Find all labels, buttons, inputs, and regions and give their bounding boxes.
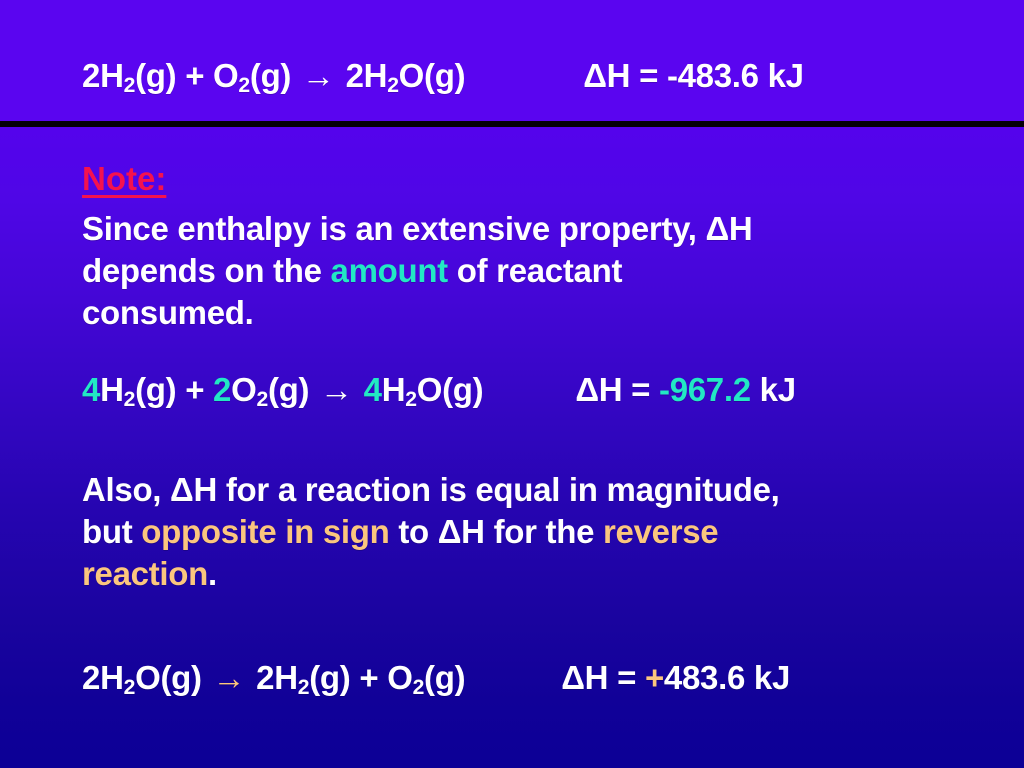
thermochemical-equation-reverse: 2H2O(g) → 2H2(g) + O2(g)ΔH = +483.6 kJ bbox=[82, 659, 790, 702]
eq2-delta-h-label: ΔH = bbox=[575, 371, 650, 408]
eq1-product-formula-h: H bbox=[364, 57, 388, 94]
also-line-1-text: Also, ΔH for a reaction is equal in magn… bbox=[82, 471, 780, 508]
eq2-reactant2-formula: O bbox=[231, 371, 256, 408]
also-line-3-period: . bbox=[208, 555, 217, 592]
also-line-3: reaction. bbox=[82, 553, 217, 595]
eq1-product-formula-o: O bbox=[399, 57, 424, 94]
eq1-reactant2-state: (g) bbox=[250, 57, 291, 94]
slide-canvas: 2H2(g) + O2(g) → 2H2O(g)ΔH = -483.6 kJ N… bbox=[0, 0, 1024, 768]
eq2-reactant1-formula: H bbox=[100, 371, 124, 408]
eq1-plus-sign: + bbox=[185, 57, 204, 94]
also-highlight-reverse: reverse bbox=[603, 513, 718, 550]
eq3-plus-sign: + bbox=[359, 659, 378, 696]
reaction-arrow-icon: → bbox=[211, 659, 248, 696]
thermochemical-equation-scaled: 4H2(g) + 2O2(g) → 4H2O(g)ΔH = -967.2 kJ bbox=[82, 371, 796, 414]
eq1-reactant2-subscript: 2 bbox=[238, 74, 249, 97]
eq3-product1-subscript: 2 bbox=[298, 676, 309, 699]
eq2-product-formula-o: O bbox=[417, 371, 442, 408]
eq3-reactant-subscript: 2 bbox=[124, 676, 135, 699]
note-line-2-text-after: of reactant bbox=[448, 252, 622, 289]
eq3-reactant-coeff: 2 bbox=[82, 659, 100, 696]
note-line-1-text: Since enthalpy is an extensive property,… bbox=[82, 210, 752, 247]
eq1-reactant1-state: (g) bbox=[135, 57, 176, 94]
eq2-reactant2-coeff: 2 bbox=[213, 371, 231, 408]
eq3-product1-coeff: 2 bbox=[256, 659, 274, 696]
eq2-delta-h-value: -967.2 bbox=[659, 371, 751, 408]
eq3-delta-h-sign: + bbox=[645, 659, 664, 696]
reaction-arrow-icon: → bbox=[318, 371, 355, 408]
eq2-reactant2-state: (g) bbox=[268, 371, 309, 408]
eq2-delta-h-unit: kJ bbox=[760, 371, 796, 408]
also-highlight-reaction: reaction bbox=[82, 555, 208, 592]
eq3-delta-h-value: 483.6 bbox=[664, 659, 745, 696]
eq3-reactant-formula-h: H bbox=[100, 659, 124, 696]
eq1-delta-h-value: -483.6 bbox=[667, 57, 759, 94]
eq1-reactant1-subscript: 2 bbox=[124, 74, 135, 97]
eq2-product-formula-h: H bbox=[382, 371, 406, 408]
eq3-product1-state: (g) bbox=[309, 659, 350, 696]
eq3-product2-state: (g) bbox=[424, 659, 465, 696]
note-line-3-text: consumed. bbox=[82, 294, 254, 331]
eq3-reactant-state: (g) bbox=[160, 659, 201, 696]
eq2-product-state: (g) bbox=[442, 371, 483, 408]
eq2-product-subscript: 2 bbox=[405, 388, 416, 411]
eq2-product-coeff: 4 bbox=[364, 371, 382, 408]
eq3-product2-formula: O bbox=[387, 659, 412, 696]
note-label: Note: bbox=[82, 160, 166, 198]
eq2-reactant1-coeff: 4 bbox=[82, 371, 100, 408]
also-highlight-opposite-in-sign: opposite in sign bbox=[141, 513, 389, 550]
note-highlight-amount: amount bbox=[331, 252, 448, 289]
eq2-plus-sign: + bbox=[185, 371, 204, 408]
note-line-2: depends on the amount of reactant bbox=[82, 250, 622, 292]
eq1-product-state: (g) bbox=[424, 57, 465, 94]
eq2-reactant2-subscript: 2 bbox=[256, 388, 267, 411]
note-line-1: Since enthalpy is an extensive property,… bbox=[82, 208, 752, 250]
eq1-product-coeff: 2 bbox=[346, 57, 364, 94]
eq1-product-subscript: 2 bbox=[387, 74, 398, 97]
eq2-reactant1-state: (g) bbox=[135, 371, 176, 408]
eq3-reactant-formula-o: O bbox=[135, 659, 160, 696]
note-line-3: consumed. bbox=[82, 292, 254, 334]
eq1-reactant1-formula: H bbox=[100, 57, 124, 94]
also-line-1: Also, ΔH for a reaction is equal in magn… bbox=[82, 469, 780, 511]
eq1-reactant2-formula: O bbox=[213, 57, 238, 94]
eq3-product1-formula: H bbox=[274, 659, 298, 696]
also-line-2: but opposite in sign to ΔH for the rever… bbox=[82, 511, 718, 553]
horizontal-divider-rule bbox=[0, 121, 1024, 127]
eq1-reactant1-coeff: 2 bbox=[82, 57, 100, 94]
eq1-delta-h-unit: kJ bbox=[768, 57, 804, 94]
note-line-2-text-before: depends on the bbox=[82, 252, 331, 289]
eq3-delta-h-label: ΔH = bbox=[561, 659, 636, 696]
eq3-delta-h-unit: kJ bbox=[754, 659, 790, 696]
reaction-arrow-icon: → bbox=[300, 57, 337, 94]
also-line-2-text-mid: to ΔH for the bbox=[389, 513, 603, 550]
eq2-reactant1-subscript: 2 bbox=[124, 388, 135, 411]
eq1-delta-h-label: ΔH = bbox=[583, 57, 658, 94]
eq3-product2-subscript: 2 bbox=[413, 676, 424, 699]
also-line-2-text-before: but bbox=[82, 513, 141, 550]
thermochemical-equation-formation: 2H2(g) + O2(g) → 2H2O(g)ΔH = -483.6 kJ bbox=[82, 57, 804, 100]
